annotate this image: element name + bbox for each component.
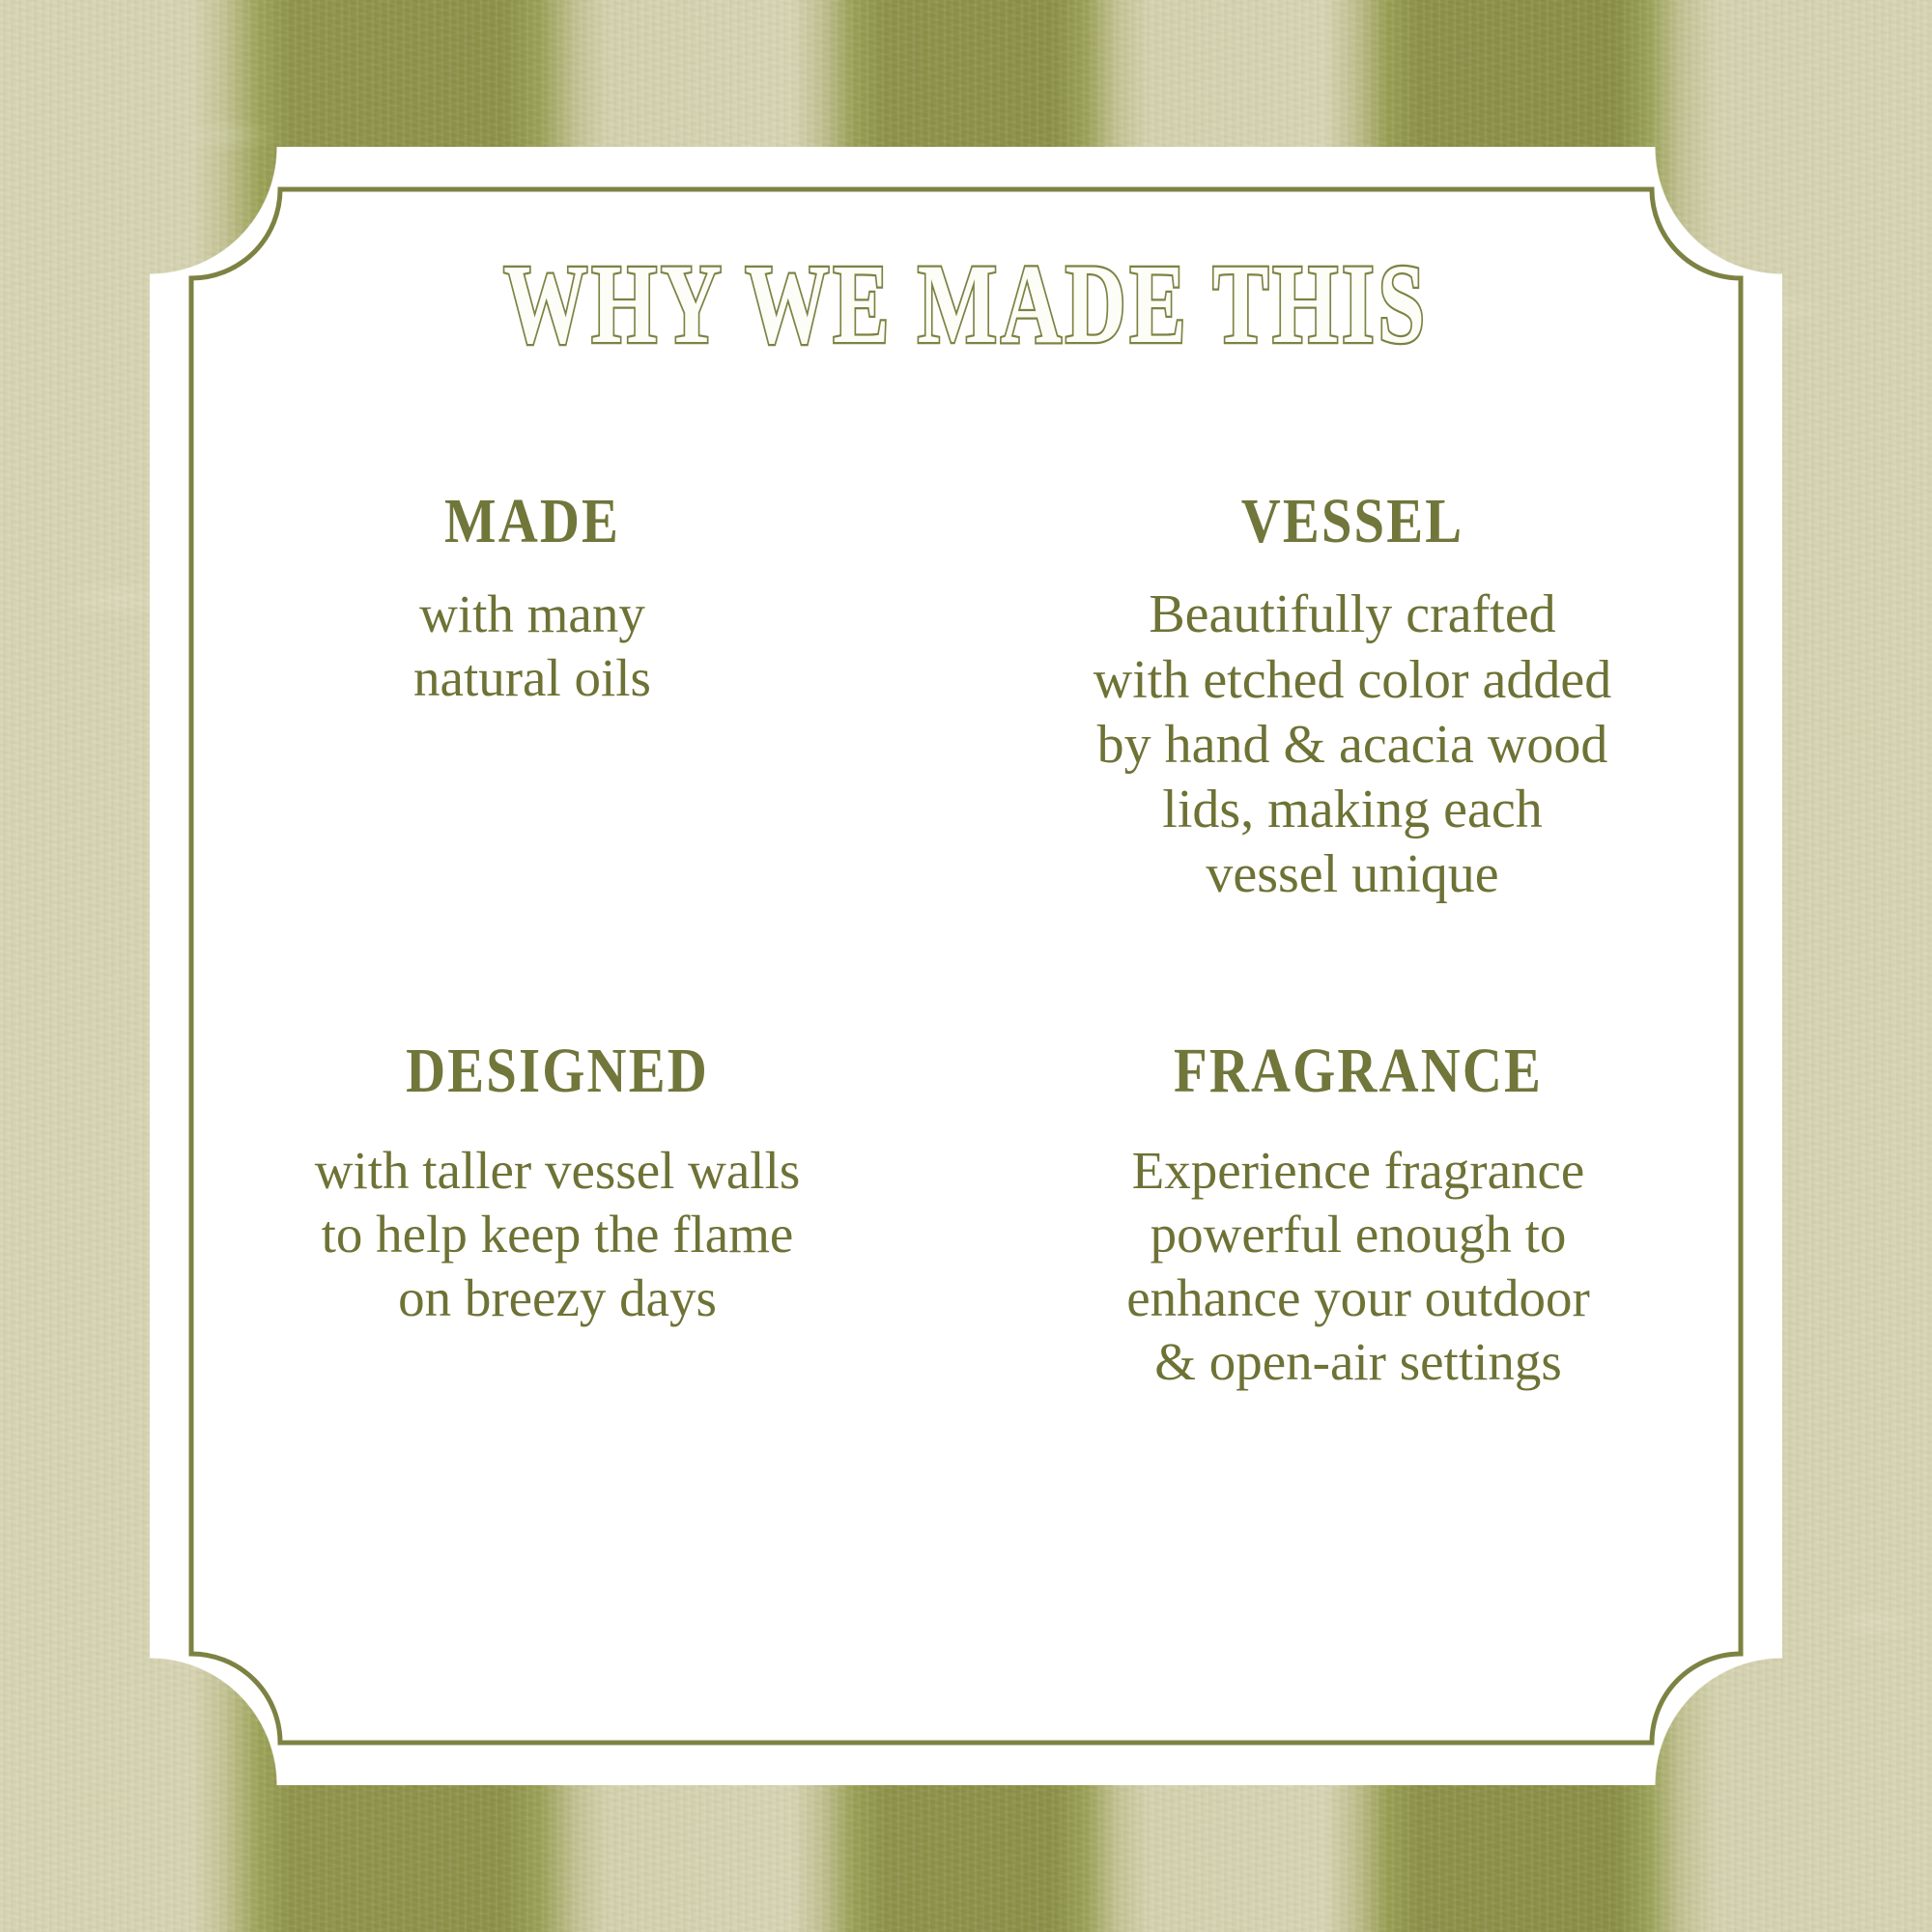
feature-designed: DESIGNED with taller vessel walls to hel… xyxy=(191,1038,966,1393)
feature-fragrance-body: Experience fragrance powerful enough to … xyxy=(1005,1139,1712,1394)
feature-fragrance-heading: FRAGRANCE xyxy=(1054,1038,1662,1103)
feature-row-bottom: DESIGNED with taller vessel walls to hel… xyxy=(191,1038,1741,1393)
feature-fragrance: FRAGRANCE Experience fragrance powerful … xyxy=(966,1038,1741,1393)
feature-vessel-body: Beautifully crafted with etched color ad… xyxy=(989,582,1716,907)
feature-made-body: with many natural oils xyxy=(191,582,873,710)
page-title: WHY WE MADE THIS xyxy=(393,247,1540,361)
feature-vessel: VESSEL Beautifully crafted with etched c… xyxy=(966,489,1741,907)
feature-made-heading: MADE xyxy=(239,489,825,554)
feature-designed-body: with taller vessel walls to help keep th… xyxy=(211,1139,904,1330)
feature-row-top: MADE with many natural oils VESSEL Beaut… xyxy=(191,489,1741,907)
feature-made: MADE with many natural oils xyxy=(191,489,966,907)
feature-grid: MADE with many natural oils VESSEL Beaut… xyxy=(191,489,1741,1394)
product-feature-card: WHY WE MADE THIS MADE with many natural … xyxy=(0,0,1932,1932)
feature-designed-heading: DESIGNED xyxy=(259,1038,855,1103)
feature-vessel-heading: VESSEL xyxy=(1040,489,1665,554)
card-content: WHY WE MADE THIS MADE with many natural … xyxy=(191,189,1741,1743)
